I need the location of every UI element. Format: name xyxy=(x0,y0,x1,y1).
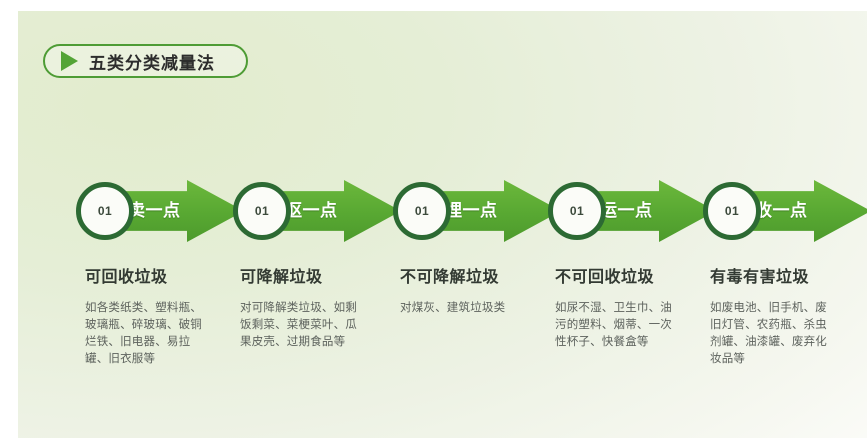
step-label: 埋一点 xyxy=(445,196,541,221)
step-number-badge: 01 xyxy=(703,182,761,240)
step-label: 沤一点 xyxy=(285,196,381,221)
process-step-4: 运一点 01 xyxy=(548,166,716,266)
category-column-hazardous: 有毒有害垃圾 如废电池、旧手机、废旧灯管、农药瓶、杀虫剂罐、油漆罐、废弃化妆品等 xyxy=(710,263,860,368)
infographic-poster: 五类分类减量法 卖一点 01 沤一点 01 埋一点 xyxy=(0,0,867,438)
page-title: 五类分类减量法 xyxy=(89,49,215,74)
step-number: 01 xyxy=(570,204,584,218)
category-description: 对煤灰、建筑垃圾类 xyxy=(400,300,520,317)
step-number-badge: 01 xyxy=(76,182,134,240)
category-title: 不可降解垃圾 xyxy=(400,263,550,287)
category-title: 不可回收垃圾 xyxy=(555,263,705,287)
category-title: 有毒有害垃圾 xyxy=(710,263,860,287)
step-label: 卖一点 xyxy=(128,196,224,221)
category-description: 如尿不湿、卫生巾、油污的塑料、烟蒂、一次性杯子、快餐盒等 xyxy=(555,300,675,351)
step-number-badge: 01 xyxy=(233,182,291,240)
play-triangle-icon xyxy=(61,51,78,71)
title-badge: 五类分类减量法 xyxy=(43,44,248,78)
process-step-3: 埋一点 01 xyxy=(393,166,561,266)
step-number: 01 xyxy=(725,204,739,218)
step-number-badge: 01 xyxy=(548,182,606,240)
category-description: 如各类纸类、塑料瓶、玻璃瓶、碎玻璃、破铜烂铁、旧电器、易拉罐、旧衣服等 xyxy=(85,300,205,368)
step-label: 运一点 xyxy=(600,196,696,221)
category-title: 可降解垃圾 xyxy=(240,263,390,287)
process-step-1: 卖一点 01 xyxy=(76,166,244,266)
category-title: 可回收垃圾 xyxy=(85,263,235,287)
step-number: 01 xyxy=(415,204,429,218)
process-step-5: 收一点 01 xyxy=(703,166,867,266)
category-columns: 可回收垃圾 如各类纸类、塑料瓶、玻璃瓶、碎玻璃、破铜烂铁、旧电器、易拉罐、旧衣服… xyxy=(18,263,867,383)
category-column-non-degradable: 不可降解垃圾 对煤灰、建筑垃圾类 xyxy=(400,263,550,317)
category-description: 对可降解类垃圾、如剩饭剩菜、菜梗菜叶、瓜果皮壳、过期食品等 xyxy=(240,300,360,351)
category-column-non-recyclable: 不可回收垃圾 如尿不湿、卫生巾、油污的塑料、烟蒂、一次性杯子、快餐盒等 xyxy=(555,263,705,351)
category-column-recyclable: 可回收垃圾 如各类纸类、塑料瓶、玻璃瓶、碎玻璃、破铜烂铁、旧电器、易拉罐、旧衣服… xyxy=(85,263,235,368)
step-number-badge: 01 xyxy=(393,182,451,240)
step-number: 01 xyxy=(98,204,112,218)
step-label: 收一点 xyxy=(755,196,851,221)
step-number: 01 xyxy=(255,204,269,218)
process-arrow-row: 卖一点 01 沤一点 01 埋一点 01 xyxy=(18,166,867,266)
category-column-degradable: 可降解垃圾 对可降解类垃圾、如剩饭剩菜、菜梗菜叶、瓜果皮壳、过期食品等 xyxy=(240,263,390,351)
process-step-2: 沤一点 01 xyxy=(233,166,401,266)
poster-background-panel: 五类分类减量法 卖一点 01 沤一点 01 埋一点 xyxy=(18,11,867,438)
category-description: 如废电池、旧手机、废旧灯管、农药瓶、杀虫剂罐、油漆罐、废弃化妆品等 xyxy=(710,300,830,368)
